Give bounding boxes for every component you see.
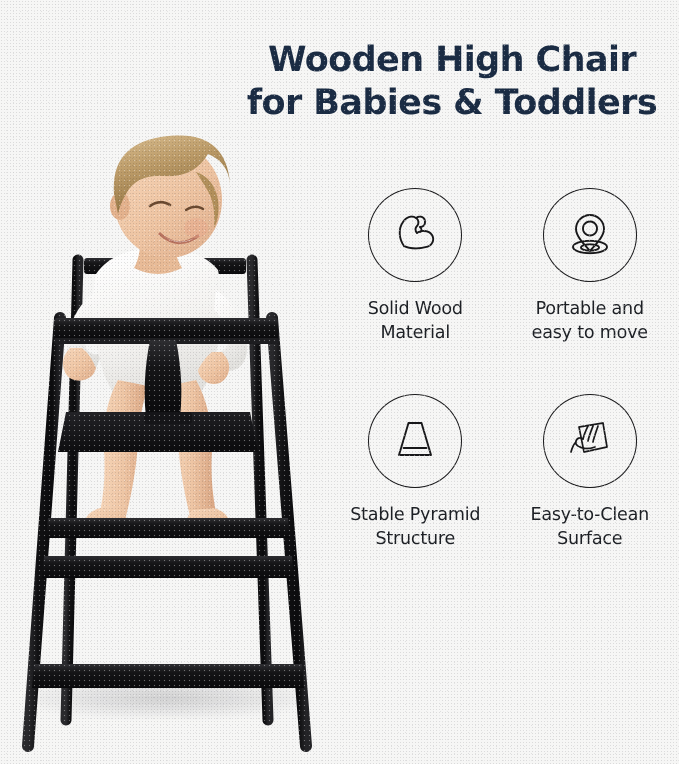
map-pin-icon — [562, 205, 618, 266]
product-photo — [0, 60, 330, 764]
baby-left-hand — [63, 348, 96, 381]
trapezoid-pyramid-icon — [387, 411, 443, 472]
chair-footrest-rung — [46, 518, 290, 538]
chair-safety-bar — [54, 318, 278, 340]
chair-middle-rung — [42, 556, 294, 578]
feature-label: Stable Pyramid Structure — [350, 504, 480, 551]
feature-icon-circle — [368, 394, 462, 488]
feature-easy-to-clean: Easy-to-Clean Surface — [505, 394, 676, 580]
feature-icon-circle — [543, 188, 637, 282]
feature-label: Easy-to-Clean Surface — [530, 504, 649, 551]
page-title: Wooden High Chair for Babies & Toddlers — [236, 39, 668, 124]
feature-icon-circle — [543, 394, 637, 488]
chair-bottom-rung — [32, 664, 304, 688]
feature-icon-circle — [368, 188, 462, 282]
feature-label: Solid Wood Material — [368, 298, 463, 345]
feature-stable-pyramid: Stable Pyramid Structure — [330, 394, 501, 580]
chair-crotch-post — [145, 340, 182, 418]
feature-solid-wood: Solid Wood Material — [330, 188, 501, 374]
flexed-bicep-icon — [387, 205, 443, 266]
feature-portable: Portable and easy to move — [505, 188, 676, 374]
page-title-line-2: for Babies & Toddlers — [236, 82, 668, 125]
feature-grid: Solid Wood Material Portable and easy to… — [330, 188, 675, 580]
baby-cheek — [184, 218, 208, 238]
feature-label: Portable and easy to move — [532, 298, 648, 345]
infographic-page: Wooden High Chair for Babies & Toddlers … — [0, 0, 679, 764]
page-title-line-1: Wooden High Chair — [236, 39, 668, 82]
hand-wiping-cloth-icon — [562, 411, 618, 472]
chair-crotch-post-base — [144, 412, 192, 424]
